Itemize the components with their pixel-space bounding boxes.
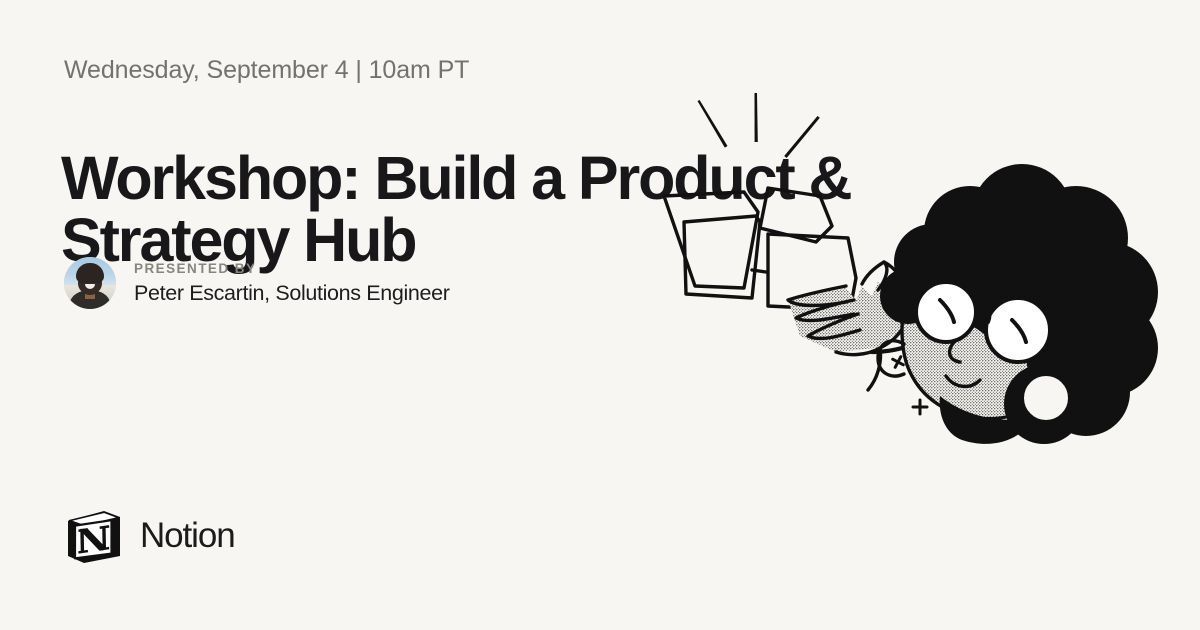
title-line-1: Workshop: Build a Product &	[61, 147, 891, 209]
head-with-afro	[878, 164, 1158, 444]
page-title: Workshop: Build a Product & Strategy Hub	[61, 147, 891, 271]
presenter-name: Peter Escartin, Solutions Engineer	[134, 281, 450, 306]
promo-canvas: Wednesday, September 4 | 10am PT Worksho…	[0, 0, 1200, 630]
presenter-row: PRESENTED BY Peter Escartin, Solutions E…	[64, 257, 450, 309]
notion-logo-icon	[64, 506, 124, 566]
notion-wordmark: Notion	[140, 516, 235, 556]
presenter-text: PRESENTED BY Peter Escartin, Solutions E…	[134, 261, 450, 306]
shirt-sparkles	[890, 272, 1091, 414]
content-column: Wednesday, September 4 | 10am PT Worksho…	[64, 0, 844, 630]
earring	[1022, 374, 1070, 422]
brand-lockup: Notion	[64, 506, 235, 566]
afro-hair	[880, 164, 1158, 444]
event-date-time: Wednesday, September 4 | 10am PT	[64, 56, 469, 85]
avatar-hair	[76, 263, 104, 283]
avatar	[64, 257, 116, 309]
collar-shadow	[940, 218, 984, 236]
round-glasses	[904, 282, 1070, 362]
presented-by-label: PRESENTED BY	[134, 261, 450, 276]
patterned-shirt	[868, 230, 1064, 352]
